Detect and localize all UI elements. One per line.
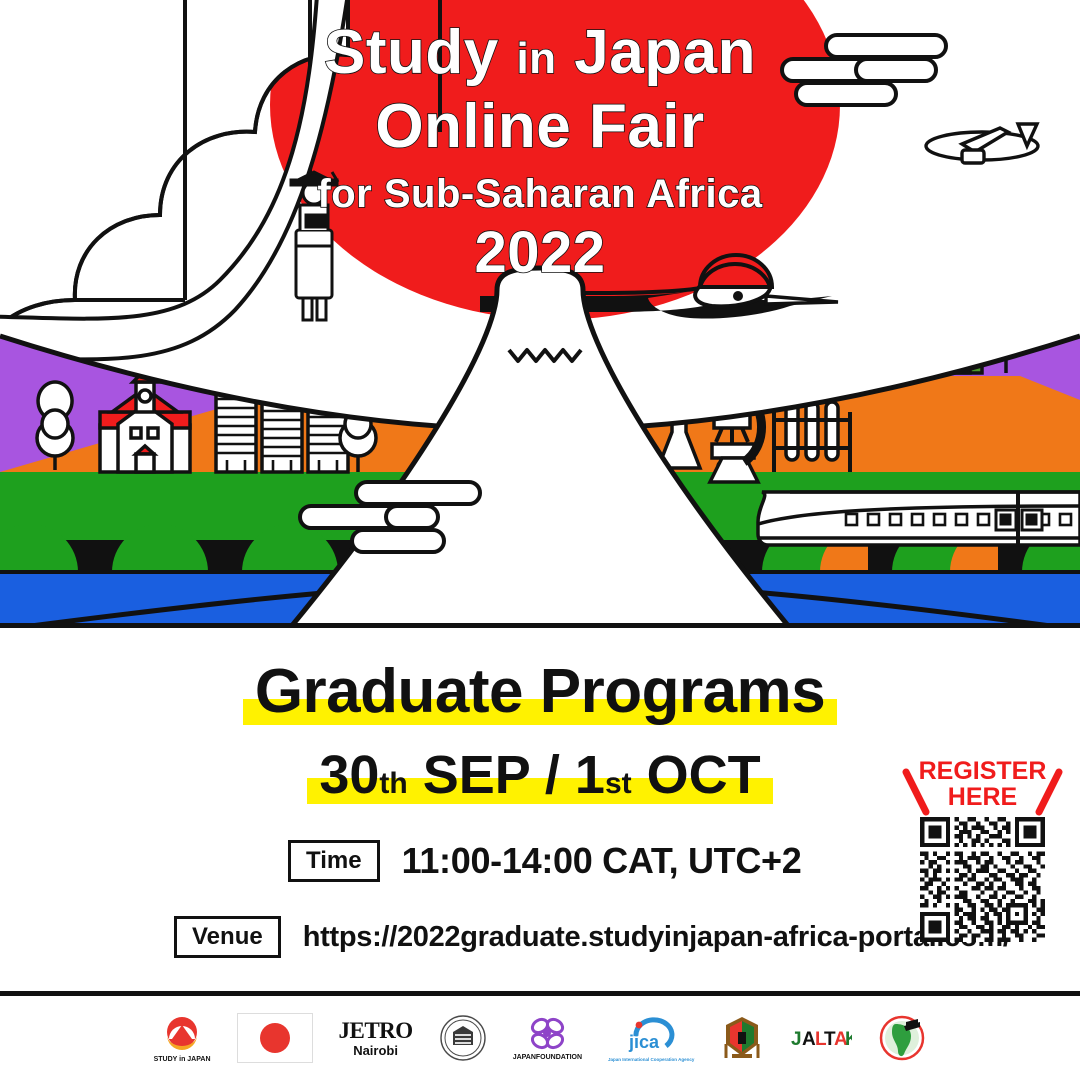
logo-study-in-japan[interactable]: STUDY in JAPAN [154,1013,211,1063]
venue-row: Venue https://2022graduate.studyinjapan-… [174,916,1011,958]
logo-japan-flag[interactable] [237,1013,313,1063]
logo-jaltak[interactable]: J A L T A K [790,1023,852,1053]
register-label: REGISTER HERE [900,758,1065,811]
logo-jica-subcaption: Japan International Cooperation Agency [608,1057,694,1062]
program-title-highlight: Graduate Programs [255,656,825,727]
logo-jetro-wordmark: JETRO [339,1019,413,1042]
date-separator: / [545,745,560,805]
program-title: Graduate Programs [255,657,825,726]
register-label-line1: REGISTER [900,758,1065,784]
svg-text:K: K [845,1029,852,1050]
date-month-1: SEP [423,745,530,805]
logo-bar: STUDY in JAPAN JETRO Nairobi [0,996,1080,1080]
program-title-row: Graduate Programs [0,656,1080,727]
venue-label: Venue [174,916,281,958]
time-value: 11:00-14:00 CAT, UTC+2 [402,840,802,882]
svg-text:A: A [802,1029,816,1050]
logo-jetro-caption: Nairobi [353,1043,398,1058]
logo-university-seal[interactable] [439,1014,487,1062]
qr-code[interactable] [920,817,1045,942]
register-label-line2: HERE [900,784,1065,810]
date-month-2: OCT [647,745,761,805]
date-day-2: 1 [575,745,605,805]
svg-text:J: J [791,1029,802,1050]
date-highlight: 30th SEP / 1st OCT [319,744,760,806]
illustration-artwork [0,0,1080,628]
logo-jica[interactable]: jica Japan International Cooperation Age… [608,1014,694,1062]
date-day-1-suffix: th [379,767,407,800]
shinkansen-train [758,492,1080,545]
date-day-1: 30 [319,745,379,805]
logo-jetro-nairobi[interactable]: JETRO Nairobi [339,1019,413,1058]
logo-japan-foundation[interactable]: JAPANFOUNDATION [513,1015,582,1061]
logo-africa-graduate[interactable] [878,1014,926,1062]
register-block[interactable]: REGISTER HERE [900,758,1065,942]
time-row: Time 11:00-14:00 CAT, UTC+2 [288,840,802,882]
date-text: 30th SEP / 1st OCT [319,745,760,805]
poster: Study in Japan Online Fair for Sub-Sahar… [0,0,1080,1080]
svg-text:jica: jica [628,1032,660,1052]
logo-japan-foundation-caption: JAPANFOUNDATION [513,1054,582,1061]
date-day-2-suffix: st [605,767,632,800]
time-label: Time [288,840,380,882]
logo-study-in-japan-caption: STUDY in JAPAN [154,1056,211,1063]
logo-university-crest[interactable] [720,1014,764,1062]
